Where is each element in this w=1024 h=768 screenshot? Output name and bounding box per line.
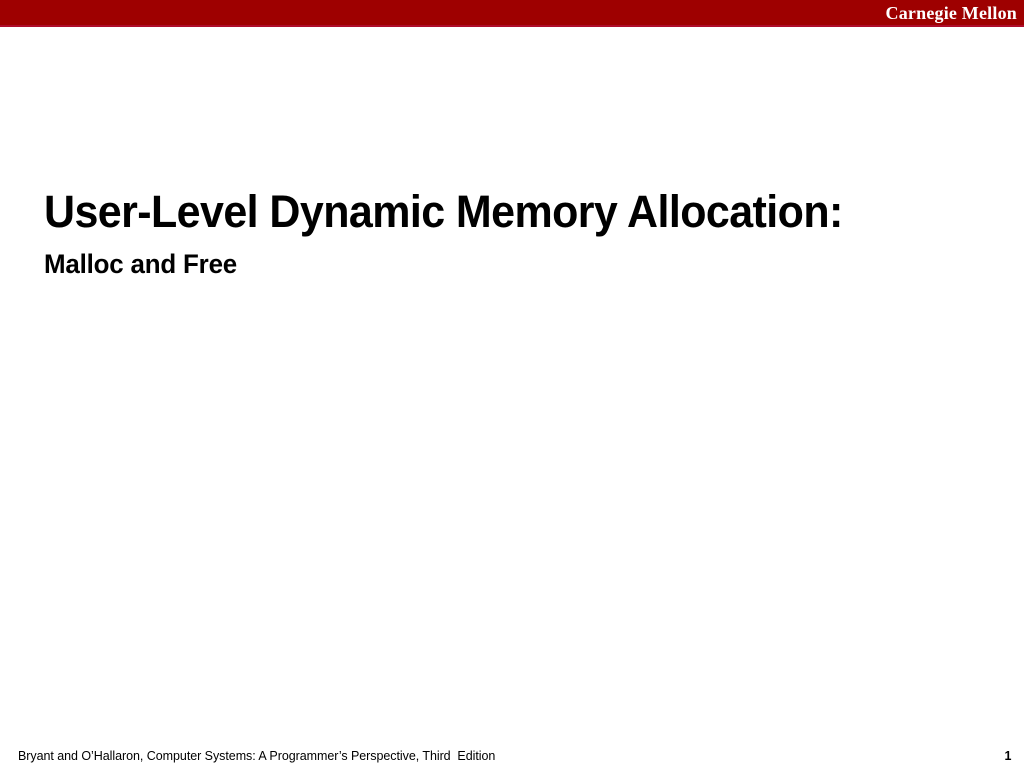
- footer-credit-text: Bryant and O’Hallaron, Computer Systems:…: [18, 748, 495, 764]
- header-bar: [0, 0, 1024, 25]
- header-bar-accent-line: [0, 25, 1024, 27]
- slide-subtitle: Malloc and Free: [44, 248, 937, 280]
- slide-title: User-Level Dynamic Memory Allocation:: [44, 186, 932, 238]
- carnegie-mellon-brand-text: Carnegie Mellon: [886, 2, 1017, 24]
- title-block: User-Level Dynamic Memory Allocation: Ma…: [44, 186, 974, 280]
- slide-body-content: [44, 310, 980, 730]
- slide: Carnegie Mellon User-Level Dynamic Memor…: [0, 0, 1024, 768]
- footer-page-number: 1: [1000, 748, 1016, 764]
